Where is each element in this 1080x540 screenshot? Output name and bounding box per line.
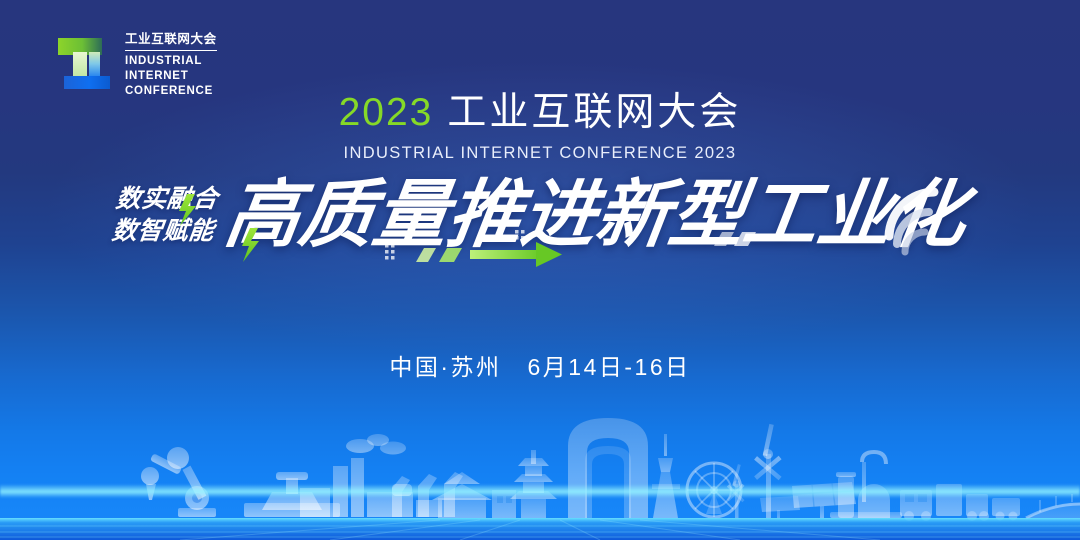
event-meta: 中国·苏州6月14日-16日 [0,348,1080,382]
ground-grid [0,518,1080,540]
conference-title-english: INDUSTRIAL INTERNET CONFERENCE 2023 [0,144,1080,163]
robot-arm-icon [141,447,216,517]
conference-title-chinese: 工业互联网大会 [447,91,741,134]
slogan-primary-text: 高质量推进新型工业化 [220,173,972,256]
conference-year: 2023 [339,91,434,134]
logo-lockup[interactable]: 工业互联网大会 INDUSTRIAL INTERNET CONFERENCE [56,28,217,98]
logo-english-line-1: INDUSTRIAL [125,54,217,69]
skyline-illustration [0,380,1080,540]
slogan-secondary-line-2: 数智赋能 [110,218,215,245]
industrial-internet-conference-logo-icon [56,32,114,94]
conference-title-block: 2023工业互联网大会 INDUSTRIAL INTERNET CONFEREN… [0,92,1080,163]
slogan-block: 数实融合 数智赋能 高质量推进新型工业化 [0,178,1080,252]
logo-english-line-2: INTERNET [125,69,217,84]
slogan-primary: 高质量推进新型工业化 [221,178,971,252]
slogan-secondary-line-1: 数实融合 [114,186,219,213]
tv-tower-icon [652,434,680,518]
horizon-glow-line [0,484,1080,498]
slogan-secondary: 数实融合 数智赋能 [110,186,219,245]
logo-chinese-name: 工业互联网大会 [125,32,217,51]
event-location: 中国·苏州 [389,354,501,380]
logo-text-block: 工业互联网大会 INDUSTRIAL INTERNET CONFERENCE [125,28,217,98]
event-dates: 6月14日-16日 [528,354,691,380]
gate-of-the-orient-icon [568,418,648,518]
conference-title: 2023工业互联网大会 [0,92,1080,135]
conference-banner: 工业互联网大会 INDUSTRIAL INTERNET CONFERENCE 2… [0,0,1080,540]
